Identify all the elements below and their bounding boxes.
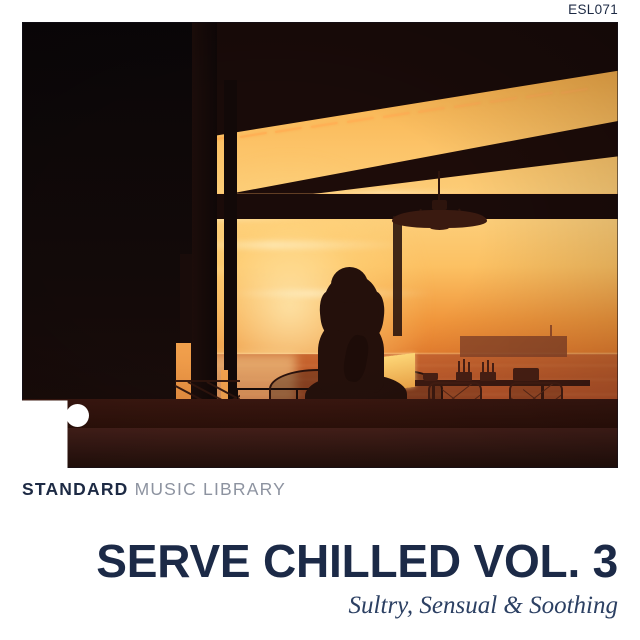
cup	[423, 373, 437, 382]
pendant-lamp	[392, 171, 487, 242]
cutlery	[482, 362, 484, 373]
terrace-deck-front	[22, 428, 618, 468]
lamp-shade	[392, 210, 487, 229]
album-title: SERVE CHILLED VOL. 3	[0, 534, 618, 588]
album-cover: ESL071	[0, 0, 640, 640]
label-lockup: STANDARD MUSIC LIBRARY	[22, 479, 286, 500]
cutlery	[492, 363, 494, 373]
cup-large	[513, 368, 539, 382]
cutlery	[487, 360, 489, 373]
cover-photo	[22, 22, 618, 468]
woman-head	[331, 267, 368, 303]
cutlery	[468, 362, 470, 373]
cutlery	[463, 359, 465, 373]
label-brand: STANDARD	[22, 479, 129, 499]
catalogue-number: ESL071	[568, 2, 618, 17]
label-suffix: MUSIC LIBRARY	[135, 479, 286, 499]
album-subtitle: Sultry, Sensual & Soothing	[0, 592, 618, 620]
notch-hole	[66, 404, 89, 427]
cutlery-pot	[456, 372, 472, 382]
cutlery-pot	[480, 372, 496, 382]
cutlery	[458, 361, 460, 373]
sunset-terrace-scene	[22, 22, 618, 468]
